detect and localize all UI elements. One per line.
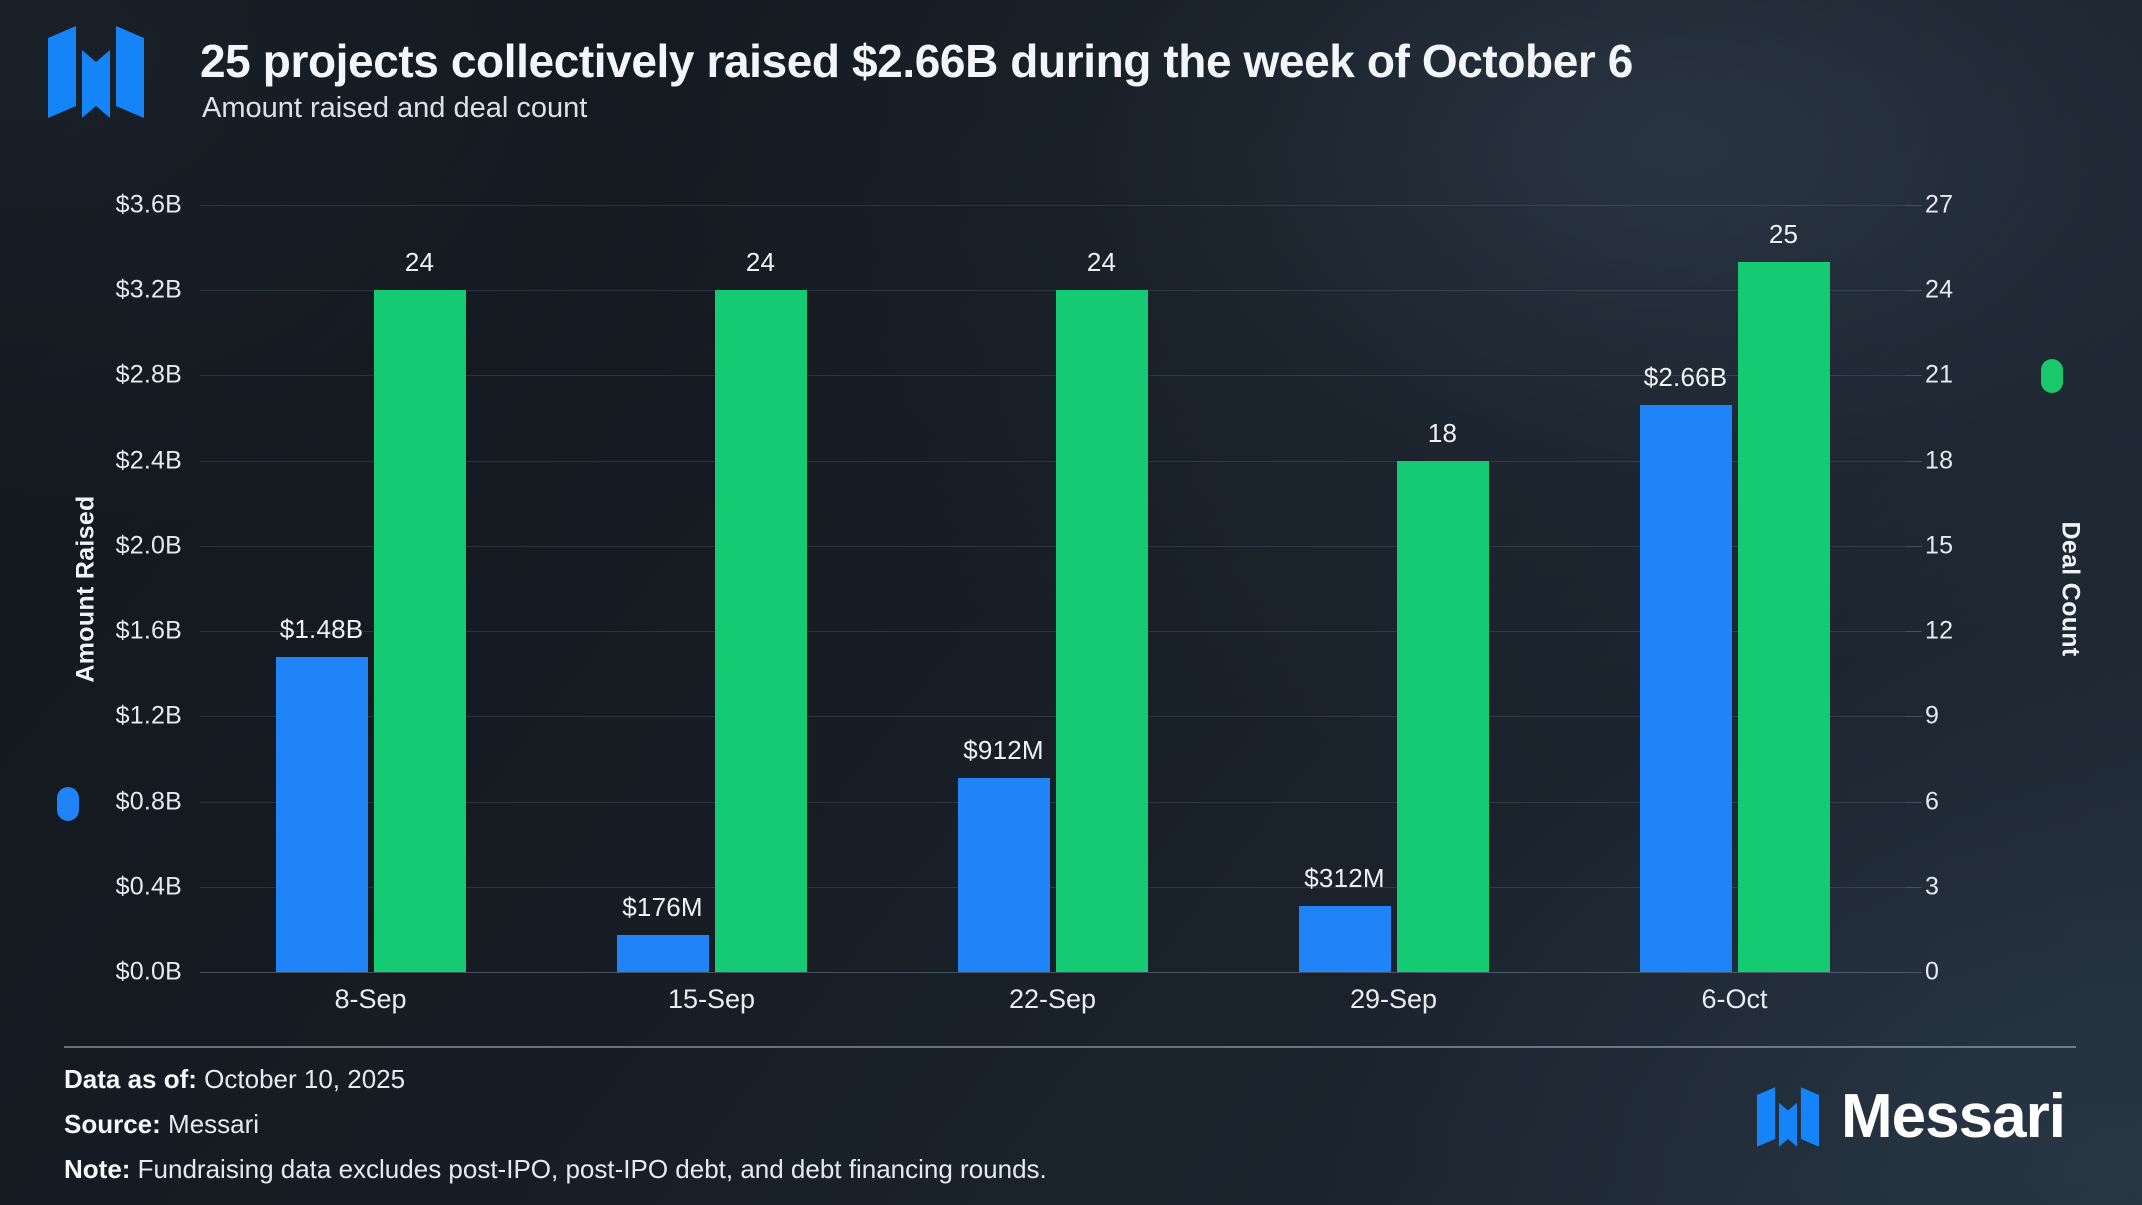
right-axis-tick-label: 6	[1925, 787, 1939, 816]
right-axis-tick-mark	[1905, 205, 1922, 206]
x-axis-tick-labels: 8-Sep15-Sep22-Sep29-Sep6-Oct	[200, 984, 1905, 1032]
right-axis-tick-label: 12	[1925, 617, 1953, 646]
data-as-of-value: October 10, 2025	[204, 1064, 405, 1094]
x-axis-tick-label: 6-Oct	[1701, 984, 1767, 1015]
bar-label-amount-raised: $312M	[1304, 863, 1385, 894]
note-value: Fundraising data excludes post-IPO, post…	[138, 1154, 1047, 1184]
messari-logo-icon	[48, 26, 144, 118]
left-axis-tick-label: $1.2B	[116, 702, 182, 731]
left-axis-tick-label: $3.2B	[116, 276, 182, 305]
messari-logo-icon-footer	[1757, 1087, 1819, 1147]
left-axis-tick-label: $2.0B	[116, 531, 182, 560]
right-axis-tick-mark	[1905, 972, 1922, 973]
x-axis-tick-label: 8-Sep	[334, 984, 406, 1015]
chart-canvas: 25 projects collectively raised $2.66B d…	[0, 0, 2142, 1205]
messari-wordmark: Messari	[1757, 1086, 2065, 1148]
source-label: Source:	[64, 1109, 161, 1139]
right-axis-tick-label: 21	[1925, 361, 1953, 390]
right-axis-tick-label: 9	[1925, 702, 1939, 731]
bar-label-amount-raised: $912M	[963, 735, 1044, 766]
right-axis-tick-mark	[1905, 716, 1922, 717]
messari-wordmark-text: Messari	[1841, 1086, 2065, 1148]
source-line: Source: Messari	[64, 1109, 1564, 1140]
right-axis-tick-label: 0	[1925, 958, 1939, 987]
bar-deal-count[interactable]	[374, 290, 466, 972]
right-axis-tick-mark	[1905, 887, 1922, 888]
bar-label-amount-raised: $1.48B	[280, 614, 364, 645]
right-axis-title: Deal Count	[2056, 439, 2085, 739]
bar-label-deal-count: 24	[405, 247, 434, 278]
data-as-of-label: Data as of:	[64, 1064, 197, 1094]
bar-label-deal-count: 24	[1087, 247, 1116, 278]
note-line: Note: Fundraising data excludes post-IPO…	[64, 1154, 1564, 1185]
chart-footer: Data as of: October 10, 2025 Source: Mes…	[64, 1064, 1564, 1199]
x-axis-tick-label: 15-Sep	[668, 984, 755, 1015]
left-axis-tick-label: $0.4B	[116, 872, 182, 901]
bar-amount-raised[interactable]	[1640, 405, 1732, 972]
bar-label-deal-count: 18	[1428, 418, 1457, 449]
x-axis-tick-label: 22-Sep	[1009, 984, 1096, 1015]
right-axis-tick-label: 27	[1925, 191, 1953, 220]
page-title: 25 projects collectively raised $2.66B d…	[200, 34, 1633, 88]
source-value: Messari	[168, 1109, 259, 1139]
footer-divider	[64, 1046, 2076, 1048]
x-axis-tick-label: 29-Sep	[1350, 984, 1437, 1015]
left-axis-tick-label: $1.6B	[116, 617, 182, 646]
right-axis-tick-mark	[1905, 546, 1922, 547]
bar-label-amount-raised: $2.66B	[1644, 362, 1728, 393]
bar-amount-raised[interactable]	[276, 657, 368, 972]
chart-header: 25 projects collectively raised $2.66B d…	[48, 26, 2048, 136]
bar-deal-count[interactable]	[1397, 461, 1489, 972]
bar-amount-raised[interactable]	[958, 778, 1050, 972]
bar-deal-count[interactable]	[715, 290, 807, 972]
bar-amount-raised[interactable]	[617, 935, 709, 972]
left-axis-tick-labels: $0.0B$0.4B$0.8B$1.2B$1.6B$2.0B$2.4B$2.8B…	[0, 205, 182, 972]
bar-label-deal-count: 25	[1769, 219, 1798, 250]
note-label: Note:	[64, 1154, 130, 1184]
left-axis-tick-label: $2.8B	[116, 361, 182, 390]
bar-deal-count[interactable]	[1056, 290, 1148, 972]
data-as-of-line: Data as of: October 10, 2025	[64, 1064, 1564, 1095]
left-axis-tick-label: $2.4B	[116, 446, 182, 475]
bar-deal-count[interactable]	[1738, 262, 1830, 972]
right-axis-tick-label: 24	[1925, 276, 1953, 305]
right-axis-tick-labels: 0369121518212427	[1925, 205, 2045, 972]
right-axis-tick-label: 15	[1925, 531, 1953, 560]
bar-label-deal-count: 24	[746, 247, 775, 278]
page-subtitle: Amount raised and deal count	[202, 92, 587, 125]
left-axis-tick-label: $0.8B	[116, 787, 182, 816]
plot-area: $1.48B24$176M24$912M24$312M18$2.66B25	[200, 205, 1905, 972]
right-axis-tick-mark	[1905, 802, 1922, 803]
left-axis-tick-label: $0.0B	[116, 958, 182, 987]
gridline	[200, 205, 1905, 206]
right-axis-tick-label: 3	[1925, 872, 1939, 901]
right-axis-tick-mark	[1905, 290, 1922, 291]
gridline	[200, 972, 1905, 973]
left-axis-tick-label: $3.6B	[116, 191, 182, 220]
bar-label-amount-raised: $176M	[622, 892, 703, 923]
right-axis-tick-mark	[1905, 375, 1922, 376]
right-axis-tick-mark	[1905, 461, 1922, 462]
bar-amount-raised[interactable]	[1299, 906, 1391, 972]
right-axis-tick-label: 18	[1925, 446, 1953, 475]
right-axis-tick-mark	[1905, 631, 1922, 632]
